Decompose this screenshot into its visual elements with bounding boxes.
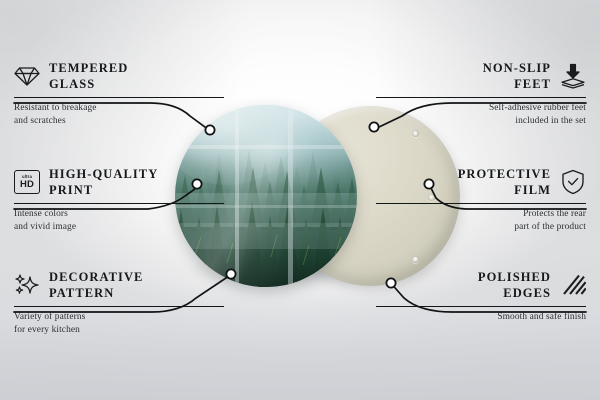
callout-polished-edges: POLISHED EDGES Smooth and safe finish [376,269,586,324]
arrow-down-pad-icon [560,63,586,89]
callout-header: PROTECTIVE FILM [376,166,586,198]
callout-divider [376,97,586,98]
callout-non-slip-feet: NON-SLIP FEET Self-adhesive rubber feet … [376,60,586,129]
callout-description: Variety of patterns for every kitchen [14,311,224,338]
callout-divider [376,306,586,307]
callout-description: Self-adhesive rubber feet included in th… [376,102,586,129]
callout-header: DECORATIVE PATTERN [14,269,224,301]
callout-decorative-pattern: DECORATIVE PATTERN Variety of patterns f… [14,269,224,338]
callout-tempered-glass: TEMPERED GLASS Resistant to breakage and… [14,60,224,129]
marker-decorative-pattern [226,269,235,278]
callout-title: TEMPERED GLASS [49,60,128,92]
callout-protective-film: PROTECTIVE FILM Protects the rear part o… [376,166,586,235]
sparkles-icon [14,272,40,298]
infographic-canvas: TEMPERED GLASS Resistant to breakage and… [0,0,600,400]
callout-divider [14,97,224,98]
callout-title: POLISHED EDGES [478,269,551,301]
diamond-icon [14,63,40,89]
callout-title: DECORATIVE PATTERN [49,269,143,301]
callout-description: Intense colors and vivid image [14,208,224,235]
shield-check-icon [560,169,586,195]
callout-title: NON-SLIP FEET [483,60,551,92]
callout-header: NON-SLIP FEET [376,60,586,92]
callout-divider [376,203,586,204]
callout-header: TEMPERED GLASS [14,60,224,92]
callout-divider [14,306,224,307]
diagonal-stripes-icon [560,272,586,298]
callout-high-quality-print: ultra HD HIGH-QUALITY PRINT Intense colo… [14,166,224,235]
callout-description: Resistant to breakage and scratches [14,102,224,129]
ultra-hd-badge-icon: ultra HD [14,169,40,195]
callout-description: Protects the rear part of the product [376,208,586,235]
callout-header: ultra HD HIGH-QUALITY PRINT [14,166,224,198]
callout-title: HIGH-QUALITY PRINT [49,166,158,198]
callout-title: PROTECTIVE FILM [458,166,551,198]
hd-badge-box: ultra HD [14,170,40,194]
callout-header: POLISHED EDGES [376,269,586,301]
callout-description: Smooth and safe finish [376,311,586,324]
callout-divider [14,203,224,204]
